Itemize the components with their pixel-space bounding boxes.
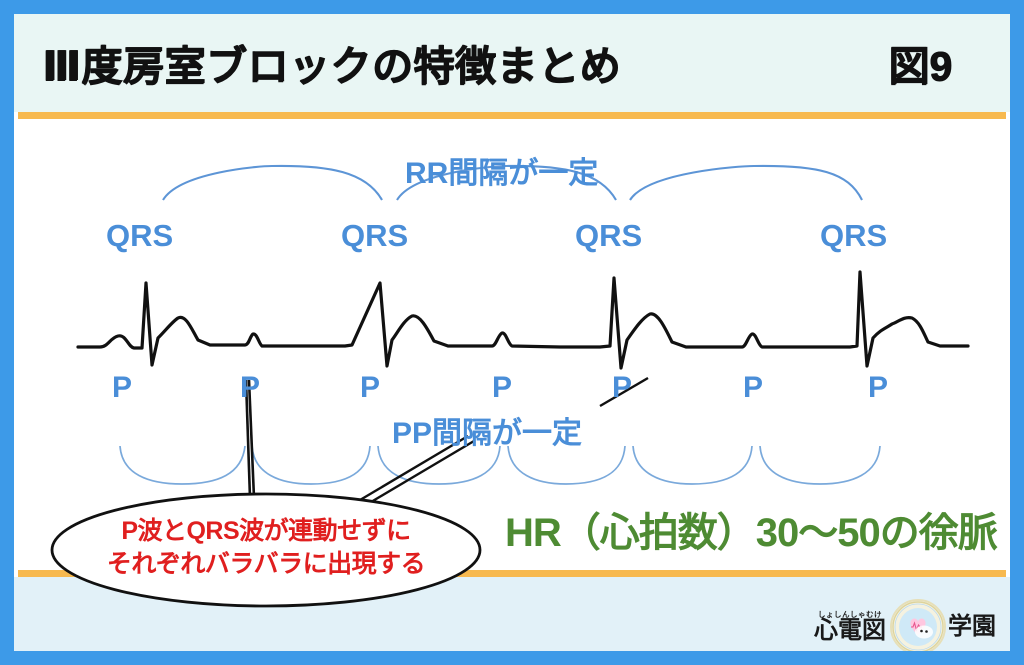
qrs-label: QRS bbox=[820, 218, 887, 254]
callout-text: P波とQRS波が連動せずに それぞれバラバラに出現する bbox=[52, 515, 480, 580]
p-wave-label: P bbox=[743, 371, 763, 405]
pp-interval-label: PP間隔が一定 bbox=[392, 408, 582, 452]
page-title: Ⅲ度房室ブロックの特徴まとめ bbox=[42, 32, 621, 92]
p-wave-label: P bbox=[612, 371, 632, 405]
qrs-label: QRS bbox=[341, 218, 408, 254]
callout-line-1: P波とQRS波が連動せずに bbox=[52, 515, 480, 548]
callout-line-2: それぞれバラバラに出現する bbox=[52, 548, 480, 581]
p-wave-label: P bbox=[360, 371, 380, 405]
heart-rate-note: HR（心拍数）30〜50の徐脈 bbox=[505, 500, 997, 558]
figure-number: 図9 bbox=[888, 32, 952, 92]
academy-badge-icon bbox=[892, 601, 944, 653]
p-wave-label: P bbox=[112, 371, 132, 405]
brand-logo: しょしんしゃむけ 心電図 学園 bbox=[814, 597, 998, 657]
qrs-label: QRS bbox=[106, 218, 173, 254]
logo-badge-icon bbox=[890, 599, 946, 655]
p-wave-label: P bbox=[868, 371, 888, 405]
logo-right-group: 学園 bbox=[948, 615, 996, 639]
slide-root: Ⅲ度房室ブロックの特徴まとめ 図9 bbox=[0, 0, 1024, 665]
p-wave-label: P bbox=[240, 371, 260, 405]
qrs-label: QRS bbox=[575, 218, 642, 254]
p-wave-label: P bbox=[492, 371, 512, 405]
logo-word-right: 学園 bbox=[948, 615, 996, 639]
logo-left-group: しょしんしゃむけ 心電図 bbox=[814, 611, 886, 644]
logo-word-left: 心電図 bbox=[814, 619, 886, 643]
divider-top bbox=[18, 112, 1006, 119]
rr-interval-label: RR間隔が一定 bbox=[405, 148, 598, 192]
